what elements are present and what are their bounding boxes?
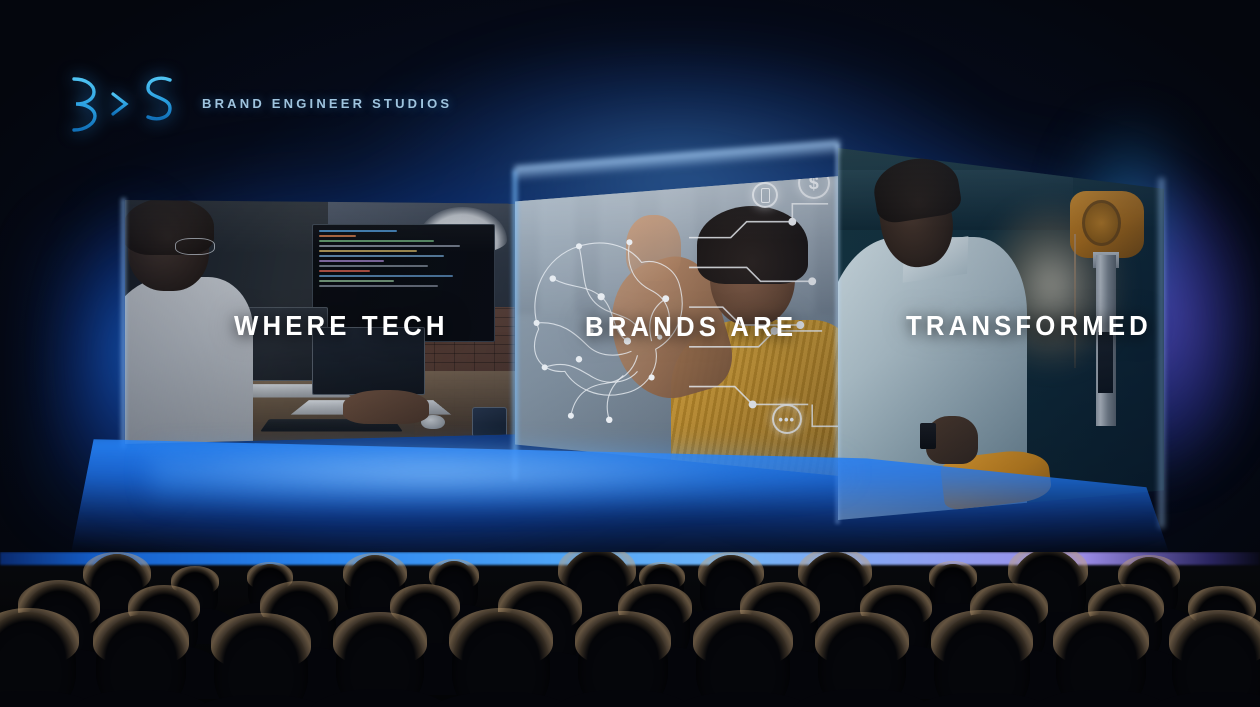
brand-wordmark: BRAND ENGINEER STUDIOS: [202, 96, 452, 111]
caption-where-tech: WHERE TECH: [234, 310, 449, 342]
developer-figure: [125, 205, 250, 444]
wristwatch: [920, 423, 936, 449]
brand-logo-lockup[interactable]: BRAND ENGINEER STUDIOS: [66, 72, 452, 134]
bes-monogram-icon: [66, 72, 182, 134]
chat-bubble-icon: •••: [772, 404, 802, 434]
presentation-stage: $ •••: [0, 0, 1260, 707]
caption-transformed: TRANSFORMED: [906, 310, 1152, 342]
eyeglasses-icon: [175, 238, 216, 255]
panel-2-top-edge-light: [514, 140, 840, 182]
audience-silhouettes: [0, 552, 1260, 707]
caption-brands-are: BRANDS ARE: [585, 311, 797, 343]
